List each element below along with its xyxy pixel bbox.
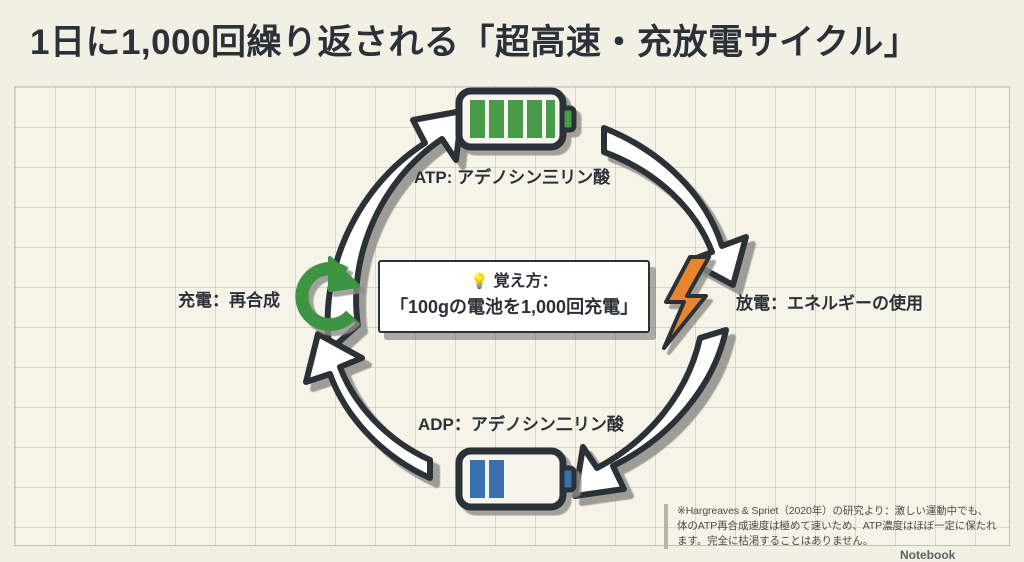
footnote: ※Hargreaves & Spriet（2020年）の研究より：激しい運動中で… xyxy=(664,504,1000,549)
cycle-label-adp: ADP：アデノシン二リン酸 xyxy=(418,410,624,435)
mnemonic-heading-row: 💡 覚え方： xyxy=(390,271,638,293)
footnote-line-2: 体のATP再合成速度は極めて速いため、ATP濃度はほぼ一定に保たれ xyxy=(677,519,1000,534)
lightbulb-icon: 💡 xyxy=(470,273,489,290)
slide-canvas: 1日に1,000回繰り返される「超高速・充放電サイクル」 xyxy=(0,0,1024,559)
cycle-label-atp: ATP: アデノシン三リン酸 xyxy=(414,163,610,188)
cycle-label-charge: 充電：再合成 xyxy=(178,286,280,311)
page-title: 1日に1,000回繰り返される「超高速・充放電サイクル」 xyxy=(30,14,990,72)
mnemonic-body: 「100gの電池を1,000回充電」 xyxy=(390,294,638,320)
watermark: Notebook xyxy=(900,548,955,562)
mnemonic-heading: 覚え方： xyxy=(494,273,558,290)
mnemonic-card: 💡 覚え方： 「100gの電池を1,000回充電」 xyxy=(378,260,650,333)
footnote-line-3: ます。完全に枯渇することはありません。 xyxy=(677,534,1000,549)
cycle-label-discharge: 放電：エネルギーの使用 xyxy=(736,289,923,314)
footnote-line-1: ※Hargreaves & Spriet（2020年）の研究より：激しい運動中で… xyxy=(677,504,1000,519)
